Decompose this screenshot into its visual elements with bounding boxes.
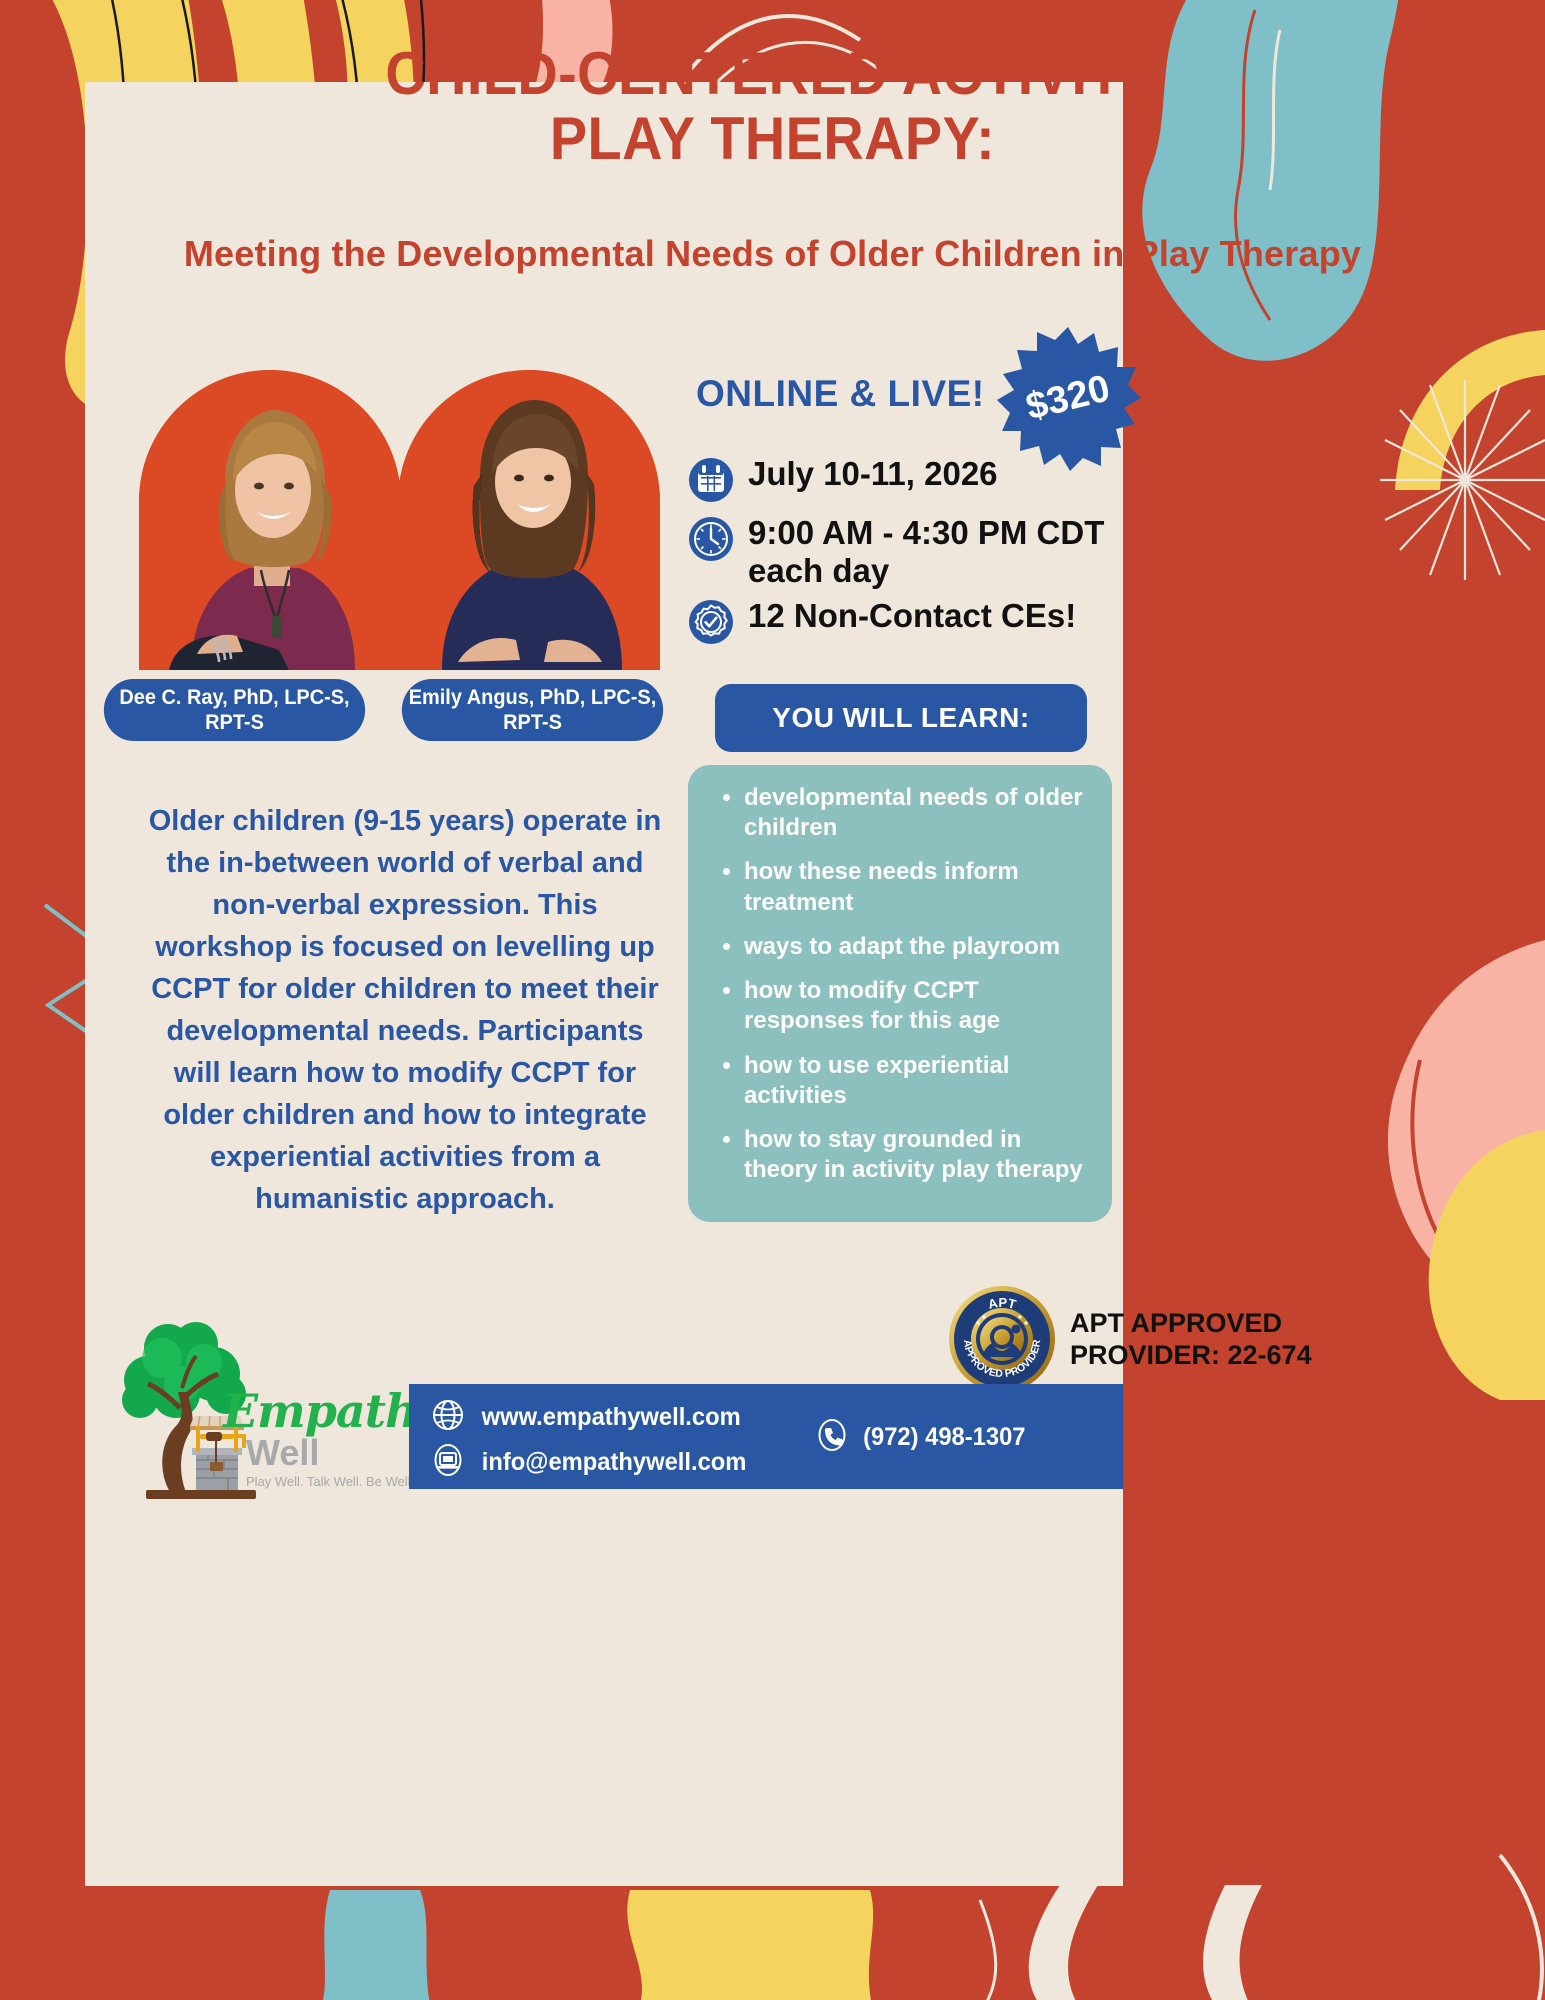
list-item: how to use experiential activities	[744, 1051, 1098, 1111]
footer-website-row[interactable]: www.empathywell.com	[431, 1398, 754, 1437]
logo-tagline: Play Well. Talk Well. Be Well.	[246, 1474, 414, 1489]
speaker-name-2: Emily Angus, PhD, LPC-S, RPT-S	[402, 679, 663, 741]
event-date: July 10-11, 2026	[740, 455, 998, 493]
title-line-1: CHILD-CENTERED ACTIVITY	[54, 42, 1491, 107]
empathy-well-logo: Empathy Well Play Well. Talk Well. Be We…	[118, 1322, 438, 1512]
emily-angus-portrait	[398, 370, 660, 670]
clock-icon	[688, 516, 740, 567]
apt-text: APT APPROVED PROVIDER: 22-674	[1070, 1307, 1312, 1372]
footer-phone-row[interactable]: (972) 498-1307	[815, 1418, 1030, 1457]
list-item: ways to adapt the playroom	[744, 932, 1098, 962]
seal-check-icon	[688, 599, 740, 650]
learn-box: developmental needs of older children ho…	[688, 765, 1112, 1222]
list-item: how these needs inform treatment	[744, 857, 1098, 917]
page-title: CHILD-CENTERED ACTIVITY PLAY THERAPY:	[54, 42, 1491, 172]
flyer-card-lower	[85, 1478, 1123, 1886]
footer-email: info@empathywell.com	[474, 1448, 746, 1477]
event-detail-row-time: 9:00 AM - 4:30 PM CDT each day	[688, 514, 1118, 591]
event-ces: 12 Non-Contact CEs!	[740, 597, 1076, 635]
list-item: how to modify CCPT responses for this ag…	[744, 976, 1098, 1036]
monitor-icon	[431, 1443, 467, 1482]
dee-c-ray-portrait	[139, 370, 401, 670]
apt-approved-provider-icon: APT APPROVED PROVIDER	[948, 1285, 1056, 1393]
format-label: ONLINE & LIVE!	[696, 373, 985, 415]
calendar-icon	[688, 457, 740, 508]
contact-footer: www.empathywell.com info@empathywell.com	[409, 1384, 1123, 1489]
apt-line-2: PROVIDER: 22-674	[1070, 1339, 1312, 1371]
logo-word: Well	[246, 1432, 319, 1474]
event-time: 9:00 AM - 4:30 PM CDT each day	[740, 514, 1118, 591]
page-subtitle: Meeting the Developmental Needs of Older…	[80, 230, 1465, 279]
footer-website: www.empathywell.com	[474, 1403, 741, 1432]
event-detail-row-ces: 12 Non-Contact CEs!	[688, 597, 1118, 650]
learn-heading: YOU WILL LEARN:	[715, 684, 1087, 752]
footer-phone: (972) 498-1307	[855, 1423, 1025, 1452]
price-badge: $320	[995, 325, 1141, 471]
footer-email-row[interactable]: info@empathywell.com	[431, 1443, 754, 1482]
list-item: developmental needs of older children	[744, 783, 1098, 843]
speaker-photo-frame-2	[398, 370, 660, 670]
learn-list: developmental needs of older children ho…	[702, 783, 1098, 1186]
globe-icon	[431, 1398, 467, 1437]
event-detail-row-date: July 10-11, 2026	[688, 455, 1118, 508]
event-details-list: July 10-11, 2026 9:00 A	[688, 455, 1118, 656]
apt-line-1: APT APPROVED	[1070, 1307, 1312, 1339]
phone-icon	[815, 1418, 851, 1457]
svg-text:APT: APT	[986, 1295, 1017, 1312]
speaker-photo-frame-1	[139, 370, 401, 670]
title-line-2: PLAY THERAPY:	[54, 107, 1491, 172]
apt-accreditation: APT APPROVED PROVIDER APT APPROVED PROVI…	[948, 1285, 1312, 1393]
list-item: how to stay grounded in theory in activi…	[744, 1125, 1098, 1185]
speaker-name-1: Dee C. Ray, PhD, LPC-S, RPT-S	[104, 679, 365, 741]
description-text: Older children (9-15 years) operate in t…	[140, 800, 670, 1220]
